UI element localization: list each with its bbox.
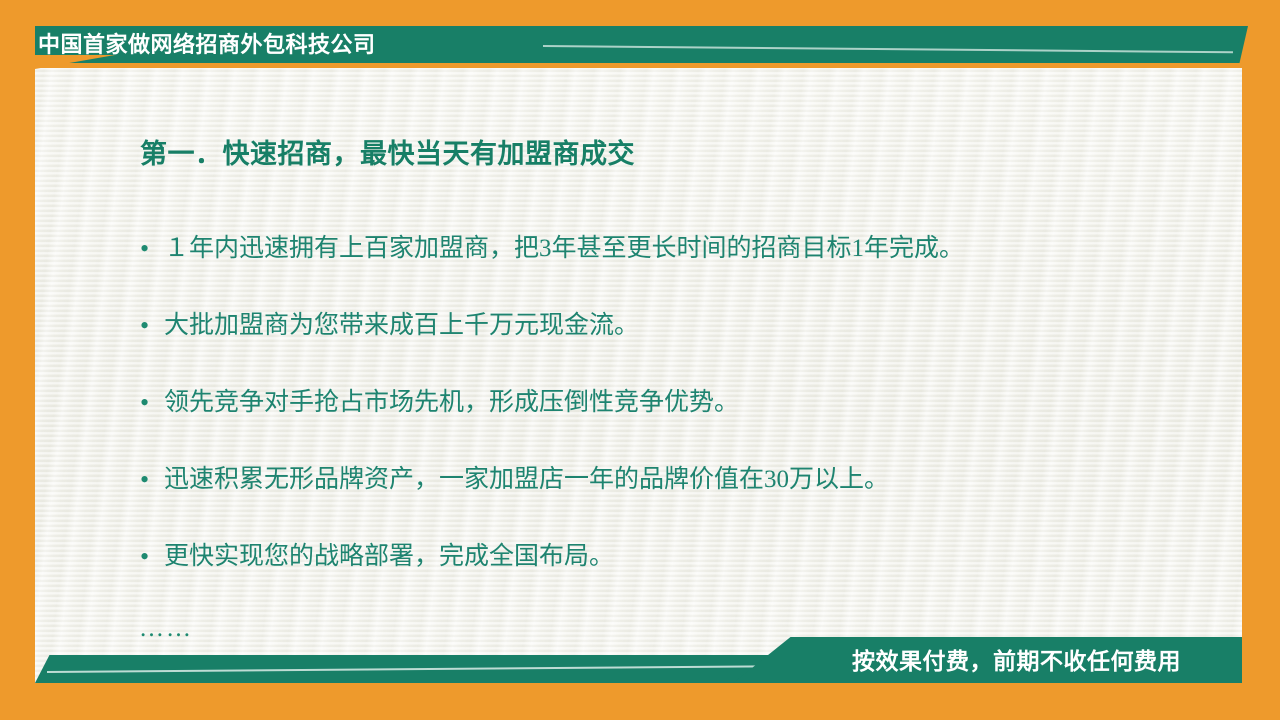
list-item-text: 更快实现您的战略部署，完成全国布局。 bbox=[164, 540, 1210, 574]
bullet-dot-icon: • bbox=[140, 309, 164, 343]
bullet-dot-icon: • bbox=[140, 463, 164, 497]
list-item: • 大批加盟商为您带来成百上千万元现金流。 bbox=[140, 309, 1210, 386]
list-item: • １年内迅速拥有上百家加盟商，把3年甚至更长时间的招商目标1年完成。 bbox=[140, 232, 1210, 309]
list-item: • 领先竞争对手抢占市场先机，形成压倒性竞争优势。 bbox=[140, 386, 1210, 463]
footer-tagline: 按效果付费，前期不收任何费用 bbox=[852, 645, 1181, 677]
bullet-dot-icon: • bbox=[140, 386, 164, 420]
bullet-dot-icon: • bbox=[140, 540, 164, 574]
continuation-ellipsis: …… bbox=[139, 614, 193, 644]
list-item-text: 领先竞争对手抢占市场先机，形成压倒性竞争优势。 bbox=[164, 386, 1210, 420]
list-item: • 迅速积累无形品牌资产，一家加盟店一年的品牌价值在30万以上。 bbox=[140, 463, 1210, 540]
presentation-slide: 中国首家做网络招商外包科技公司 第一．快速招商，最快当天有加盟商成交 • １年内… bbox=[0, 0, 1280, 720]
list-item-text: １年内迅速拥有上百家加盟商，把3年甚至更长时间的招商目标1年完成。 bbox=[164, 232, 1210, 266]
bullet-dot-icon: • bbox=[140, 232, 164, 266]
list-item: • 更快实现您的战略部署，完成全国布局。 bbox=[140, 540, 1210, 617]
bullet-list: • １年内迅速拥有上百家加盟商，把3年甚至更长时间的招商目标1年完成。 • 大批… bbox=[140, 232, 1210, 617]
list-item-text: 大批加盟商为您带来成百上千万元现金流。 bbox=[164, 309, 1210, 343]
header-title: 中国首家做网络招商外包科技公司 bbox=[38, 29, 376, 61]
list-item-text: 迅速积累无形品牌资产，一家加盟店一年的品牌价值在30万以上。 bbox=[164, 463, 1210, 497]
section-heading: 第一．快速招商，最快当天有加盟商成交 bbox=[140, 132, 635, 171]
